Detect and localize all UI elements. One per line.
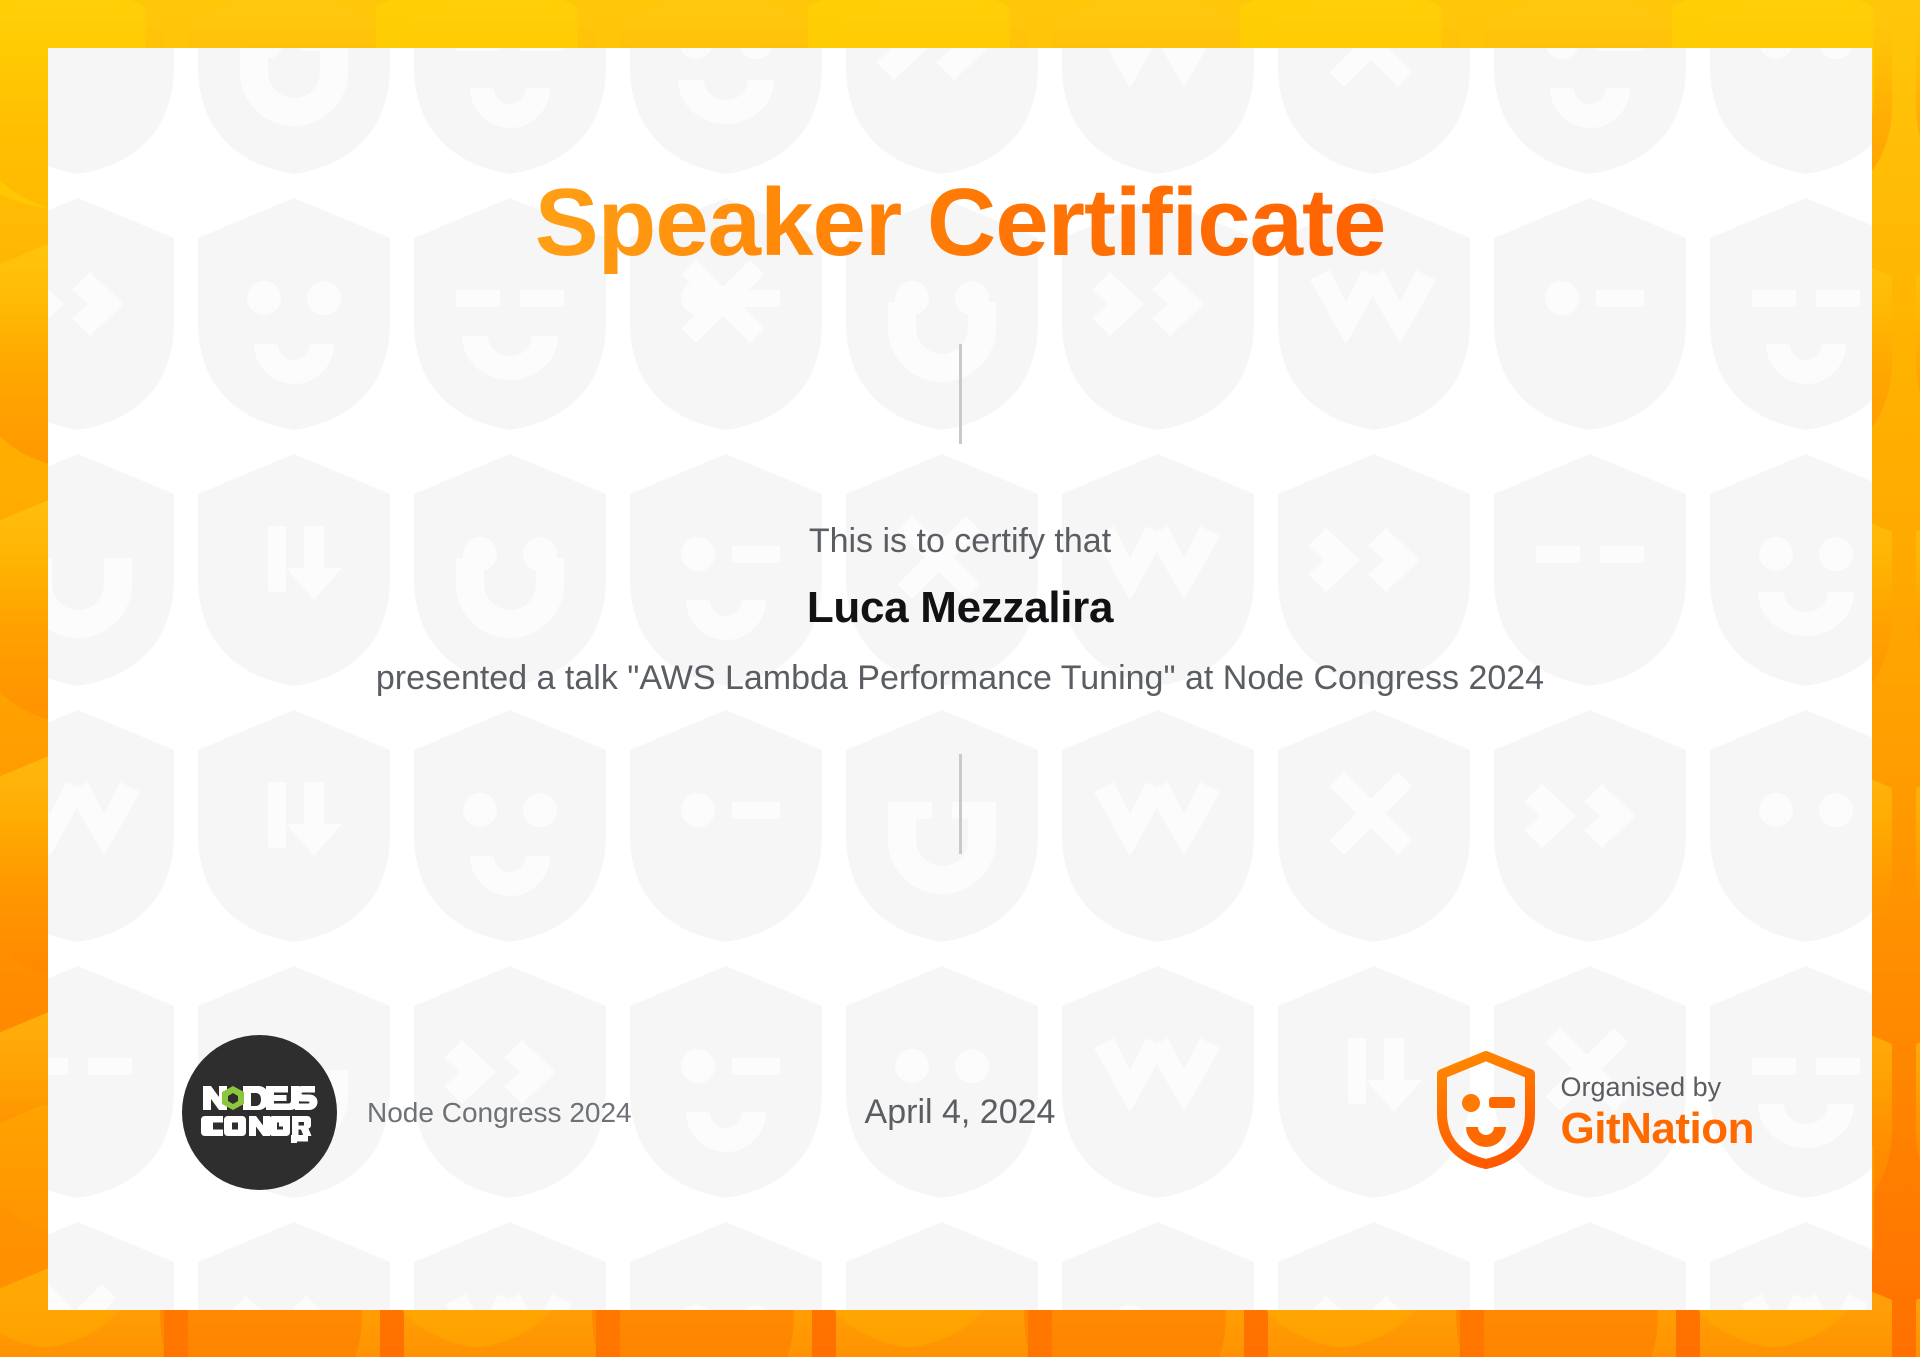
organiser-name: GitNation xyxy=(1561,1105,1754,1153)
divider-top xyxy=(959,344,962,444)
certify-line: This is to certify that xyxy=(809,522,1111,561)
certificate-date: April 4, 2024 xyxy=(865,1093,1056,1132)
divider-bottom xyxy=(959,754,962,854)
talk-description: presented a talk "AWS Lambda Performance… xyxy=(376,659,1544,698)
organised-by-label: Organised by xyxy=(1561,1071,1754,1105)
footer-organiser-block: Organised by GitNation xyxy=(1435,1051,1754,1174)
certificate-footer: Node Congress 2024 April 4, 2024 xyxy=(48,1045,1872,1180)
certificate-root: Speaker Certificate This is to certify t… xyxy=(0,0,1920,1357)
nodejs-congress-logo-icon xyxy=(182,1035,337,1190)
certificate-card: Speaker Certificate This is to certify t… xyxy=(48,48,1872,1310)
organiser-text-block: Organised by GitNation xyxy=(1561,1071,1754,1153)
footer-event-block: Node Congress 2024 xyxy=(182,1035,632,1190)
event-name-label: Node Congress 2024 xyxy=(367,1097,632,1129)
page-title: Speaker Certificate xyxy=(535,173,1386,274)
recipient-name: Luca Mezzalira xyxy=(807,583,1113,633)
gitnation-shield-icon xyxy=(1435,1051,1537,1174)
